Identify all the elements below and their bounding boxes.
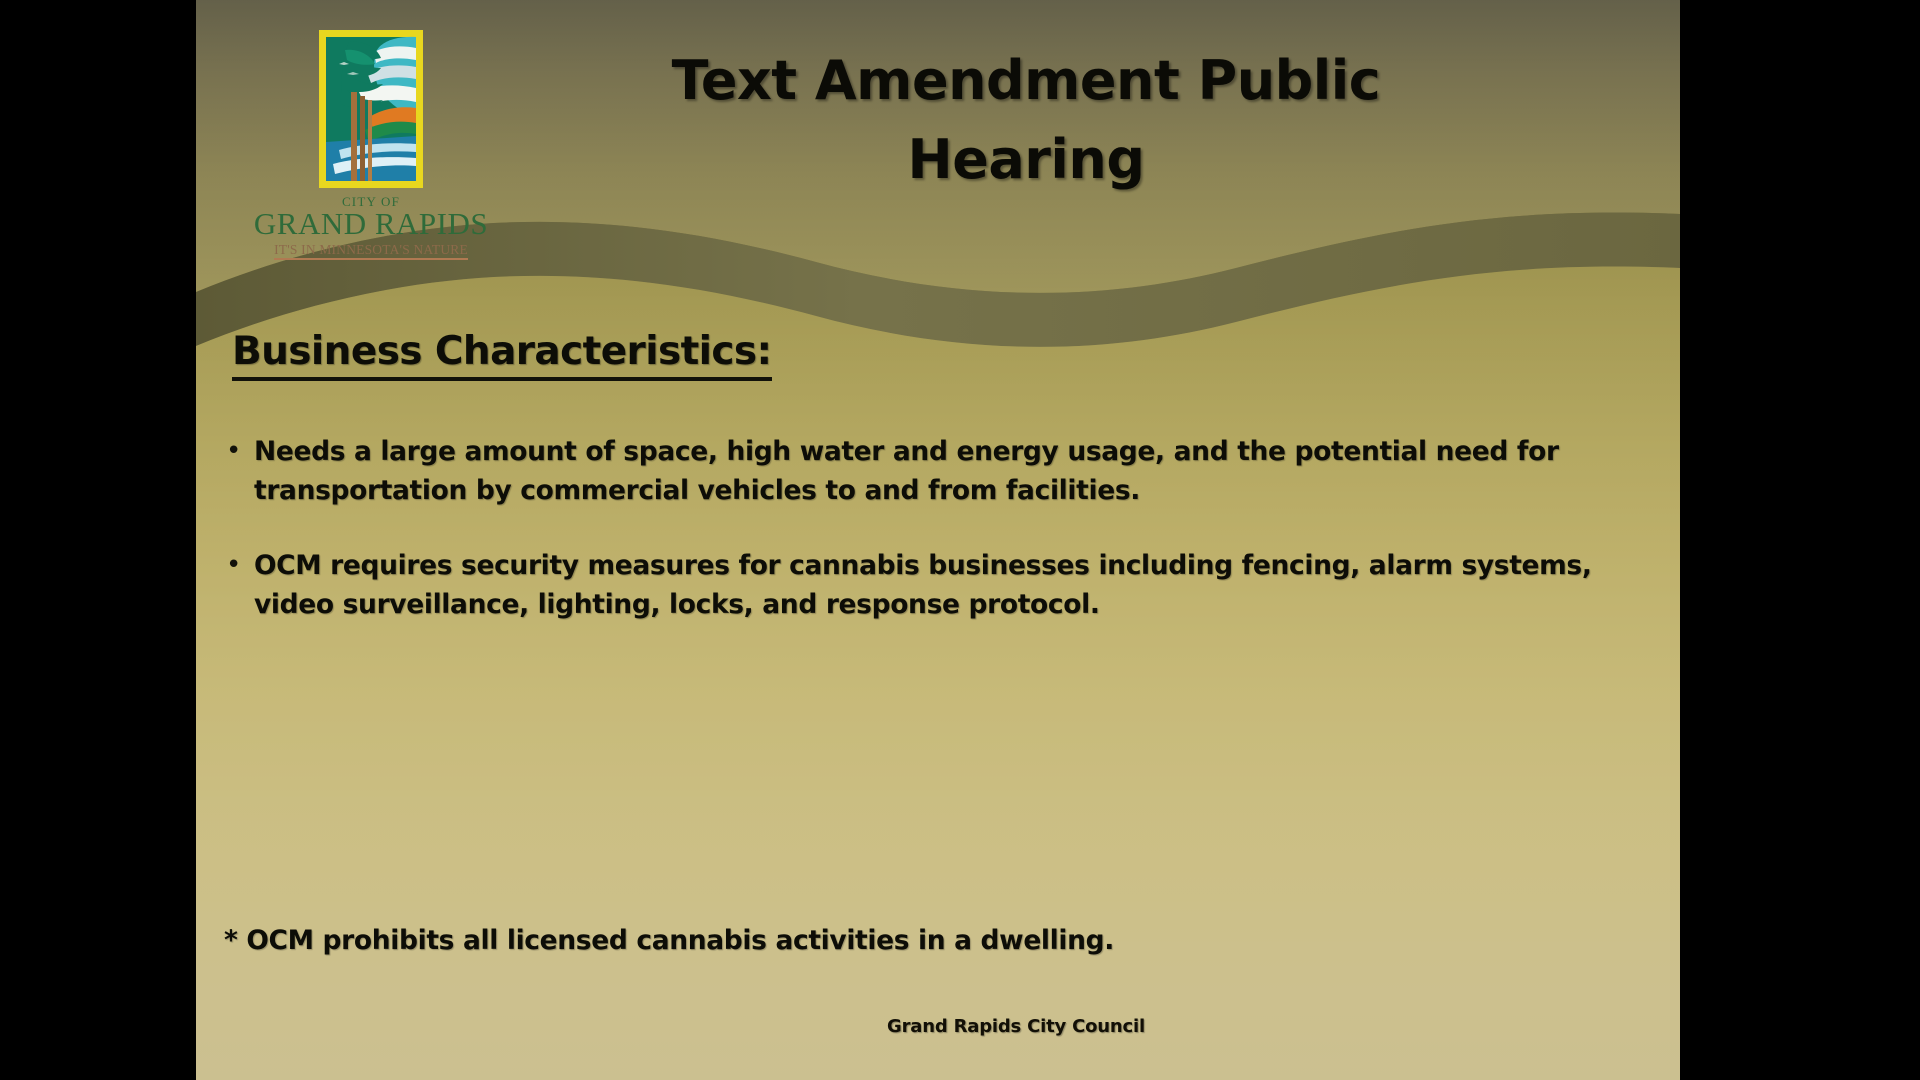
bullet-marker-icon: • bbox=[222, 432, 254, 471]
bullet-text: Needs a large amount of space, high wate… bbox=[254, 432, 1642, 510]
list-item: • OCM requires security measures for can… bbox=[222, 546, 1642, 624]
bullet-marker-icon: • bbox=[222, 546, 254, 585]
presentation-slide: CITY OF GRAND RAPIDS IT'S IN MINNESOTA'S… bbox=[196, 0, 1680, 1080]
bullet-list: • Needs a large amount of space, high wa… bbox=[222, 432, 1642, 660]
bullet-text: OCM requires security measures for canna… bbox=[254, 546, 1642, 624]
list-item: • Needs a large amount of space, high wa… bbox=[222, 432, 1642, 510]
slide-viewer: CITY OF GRAND RAPIDS IT'S IN MINNESOTA'S… bbox=[0, 0, 1920, 1080]
slide-footer: Grand Rapids City Council bbox=[196, 1016, 1680, 1037]
section-heading: Business Characteristics: bbox=[232, 331, 772, 381]
footnote-text: * OCM prohibits all licensed cannabis ac… bbox=[224, 925, 1114, 957]
slide-footer-label: Grand Rapids City Council bbox=[887, 1016, 1145, 1037]
slide-content: Business Characteristics: • Needs a larg… bbox=[196, 0, 1680, 1080]
